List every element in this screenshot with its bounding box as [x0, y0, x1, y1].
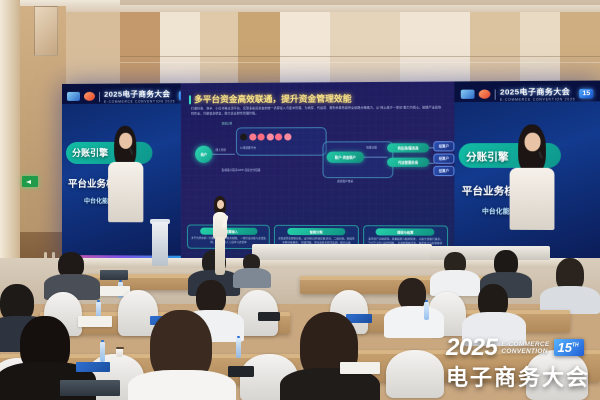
platform-icon-row	[240, 133, 291, 140]
audience-shoulders	[384, 306, 444, 338]
card-header: 智能分账	[287, 228, 345, 235]
diagram-link	[429, 147, 434, 148]
event-watermark: 2025 E-COMMERCE CONVENTION 15TH 电子商务大会	[446, 337, 590, 392]
jd-icon	[275, 133, 282, 140]
slide-body-text: 打通抖音、快手、小红书等主流平台，实现多渠道资金的统一清算接入与集中管理，为商家…	[191, 105, 444, 116]
audience-head	[196, 280, 226, 314]
diagram-link	[364, 157, 387, 158]
laptop	[100, 270, 128, 280]
diagram-branch-2: 代运营服务商	[387, 158, 429, 167]
exit-sign	[22, 176, 38, 187]
watermark-en-line2: CONVENTION	[501, 349, 549, 356]
notepad	[340, 362, 380, 374]
title-accent-icon	[189, 95, 191, 104]
watermark-badge-number: 15	[558, 340, 572, 355]
diagram-output-2: 结算户	[433, 153, 454, 163]
private-channel-label: 私域版小程序/APP·直接支付链路	[222, 168, 261, 172]
slide-title-bar: 多平台资金高效联通，提升资金管理效能	[189, 92, 352, 105]
panel-title-cn: 2025电子商务大会	[500, 86, 575, 98]
diagram-branch-1: 供应商/服务商	[387, 143, 429, 152]
card-header: 提现与结算	[376, 229, 434, 236]
diagram-output-1: 结算户	[433, 141, 454, 151]
douyin-icon	[240, 133, 247, 140]
watermark-edition-badge: 15TH	[554, 339, 584, 356]
watermark-title-cn: 电子商务大会	[446, 360, 590, 392]
diagram-link	[429, 163, 434, 164]
conference-hall-photo: 2025电子商务大会 E-COMMERCE CONVENTION 2025 15…	[0, 0, 600, 400]
wall-seam	[120, 56, 600, 57]
audience-shoulders	[128, 370, 236, 400]
sponsor-logo-icon	[67, 92, 80, 101]
presenter-on-stage	[205, 196, 235, 276]
diagram-top-label: 交易订单	[222, 121, 233, 125]
pdd-icon	[284, 133, 291, 140]
divider	[495, 89, 496, 99]
panel-title-cn: 2025电子商务大会	[104, 88, 175, 99]
phone	[258, 312, 280, 321]
taobao-icon	[266, 133, 273, 140]
diagram-platform-group	[236, 127, 327, 156]
chair	[386, 350, 444, 398]
branch-label: 智能分账	[366, 145, 377, 149]
diagram-hub-node: 账户·资金账户	[327, 152, 364, 163]
slide-title: 多平台资金高效联通，提升资金管理效能	[194, 92, 352, 105]
coffee-cup	[116, 348, 123, 357]
notepad-branded	[76, 362, 110, 372]
diagram-source-node: 商户	[195, 146, 212, 163]
wall-plaque	[34, 6, 58, 56]
sponsor-logo-icon	[479, 89, 491, 98]
sponsor-logo-icon	[84, 92, 95, 101]
audience-shoulders	[430, 270, 480, 296]
water-bottle	[424, 302, 429, 320]
sponsor-logo-icon	[461, 90, 475, 99]
led-video-wall: 2025电子商务大会 E-COMMERCE CONVENTION 2025 15…	[62, 81, 600, 264]
notepad	[78, 316, 112, 327]
ceiling-edge	[120, 0, 600, 5]
phone	[228, 366, 254, 377]
diagram-link	[212, 154, 234, 155]
account-group-label: 资金账户体系	[337, 179, 353, 183]
wall-seam-highlight	[120, 62, 600, 63]
divider	[99, 91, 100, 101]
camera-feed-right: 分账引擎 平台业务核 中台化能力	[454, 101, 600, 263]
watermark-year: 2025	[446, 337, 497, 359]
lectern	[152, 222, 168, 266]
watermark-badge-suffix: TH	[572, 343, 579, 349]
kuaishou-icon	[249, 133, 256, 140]
overlay-text-1: 分账引擎	[72, 146, 108, 159]
edition-badge: 15	[580, 89, 593, 98]
speaker-camera-right: 2025电子商务大会 E-COMMERCE CONVENTION 2025 15…	[454, 81, 600, 264]
diagram-output-3: 结算户	[433, 166, 454, 176]
water-bottle	[100, 342, 105, 362]
overlay-text-2: 平台业务核	[462, 182, 515, 198]
xiaohongshu-icon	[258, 133, 265, 140]
overlay-text-1: 分账引擎	[466, 148, 508, 164]
audience-shoulders	[233, 268, 271, 288]
platform-group-label: 公域流量平台	[240, 146, 256, 150]
water-bottle	[236, 338, 241, 358]
watermark-en: E-COMMERCE CONVENTION	[501, 342, 549, 359]
diagram-link-label: 线上交易	[215, 148, 226, 152]
laptop	[60, 380, 120, 396]
